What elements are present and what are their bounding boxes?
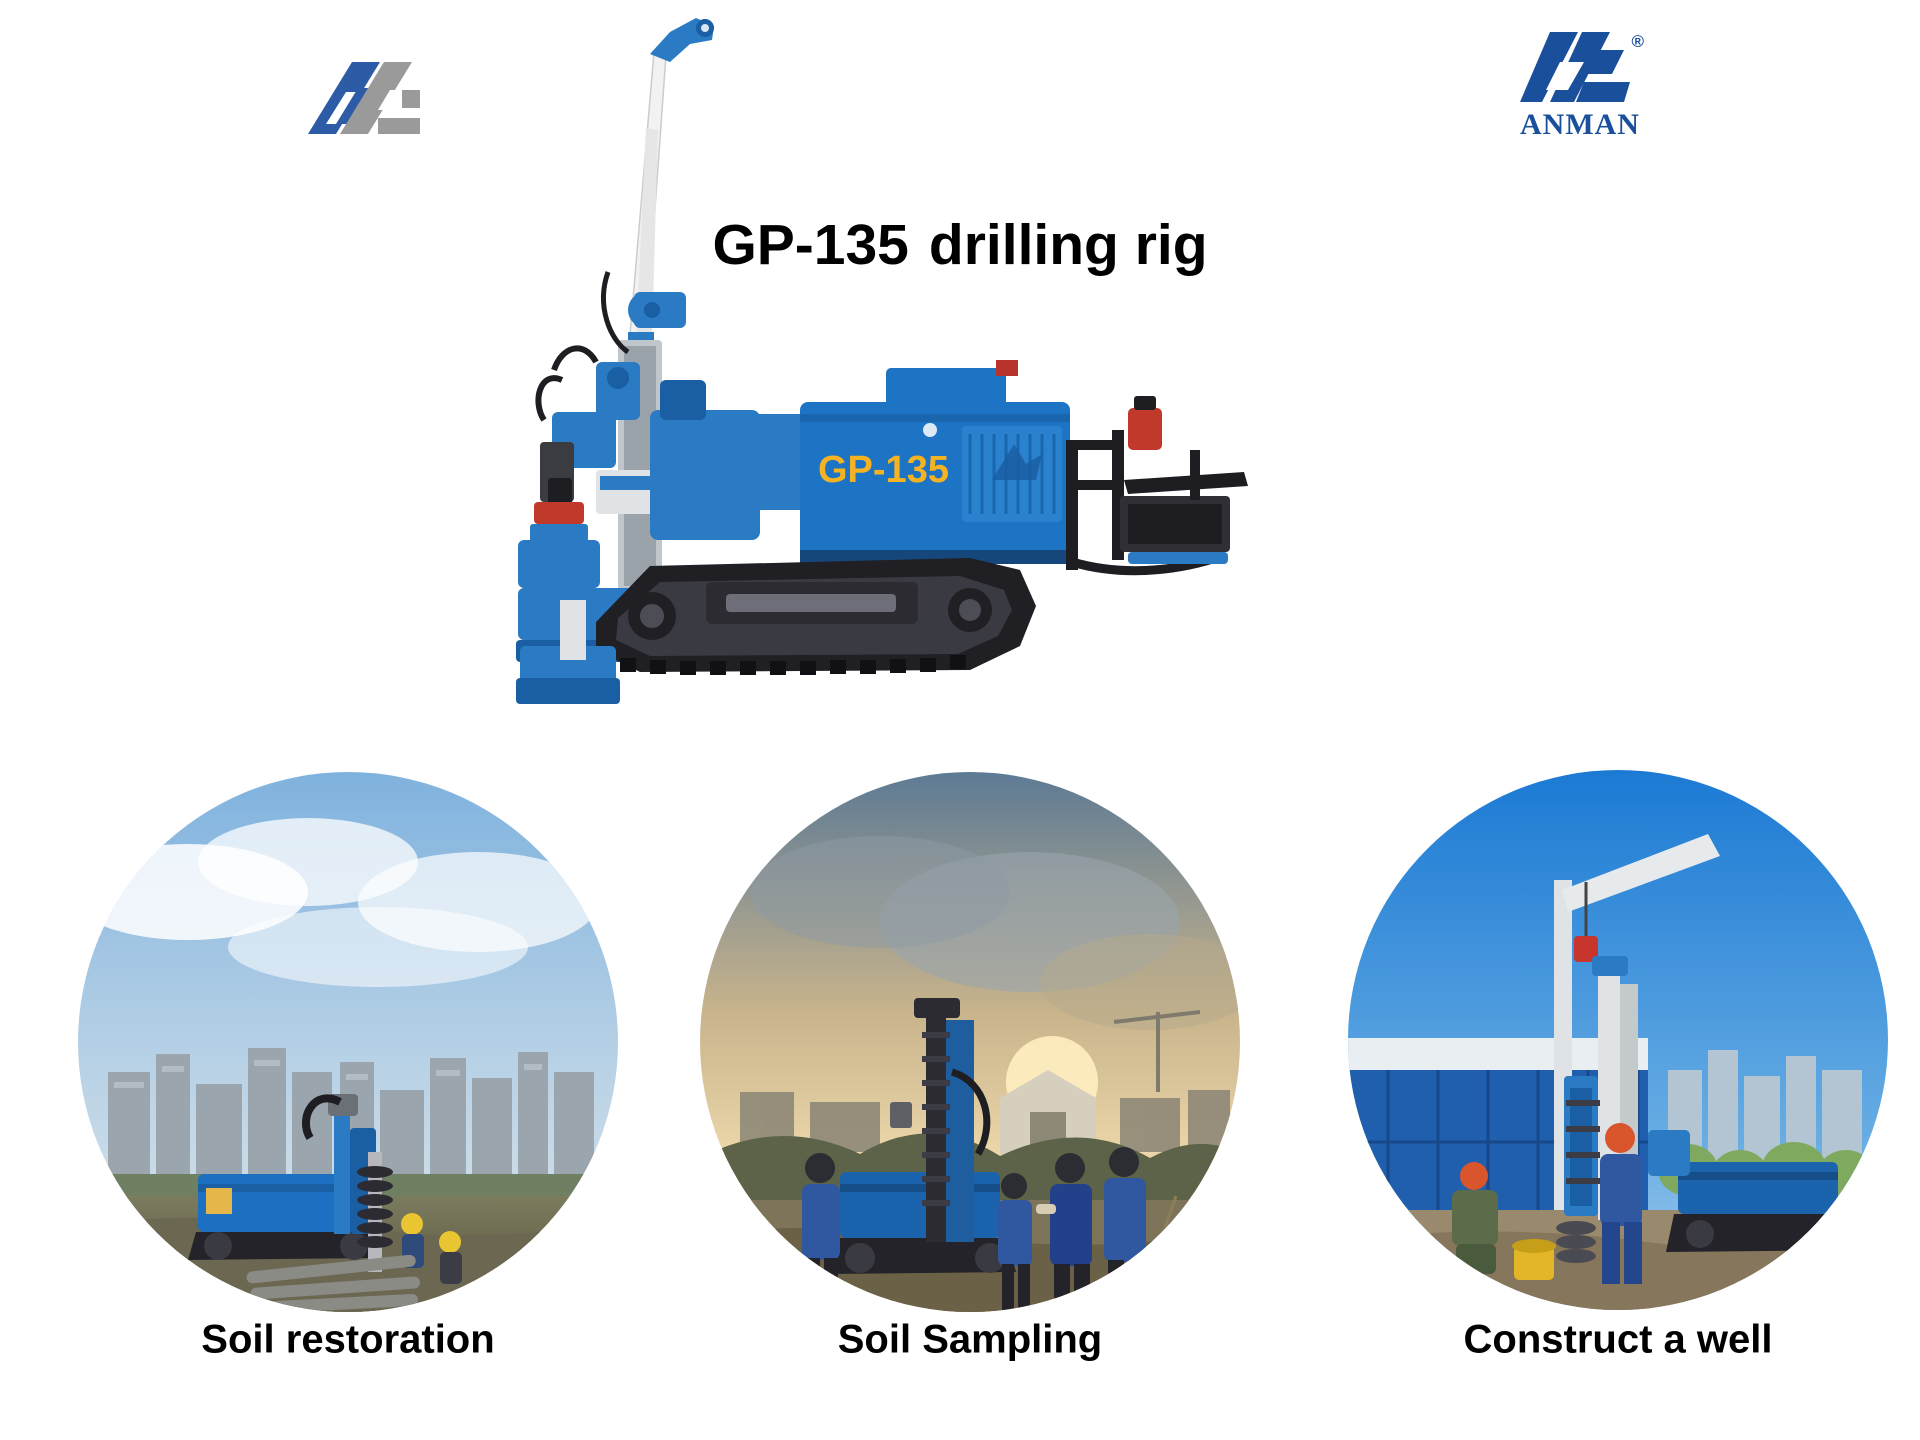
company-logo-left	[306, 62, 446, 158]
caption-soil-sampling: Soil Sampling	[700, 1318, 1240, 1363]
anman-mark: ®	[1500, 28, 1660, 106]
anman-a-mark-icon	[1520, 28, 1640, 106]
photo-construct-a-well	[1348, 770, 1888, 1310]
caption-soil-restoration: Soil restoration	[78, 1318, 618, 1363]
rig-rear-rack	[1066, 396, 1248, 571]
brand-name: ANMAN	[1500, 108, 1660, 142]
rig-engine-canopy: GP-135	[800, 360, 1070, 564]
page-title-rest: drilling rig	[929, 213, 1208, 277]
photo-construct-a-well-illustration	[1348, 770, 1888, 1310]
caption-construct-a-well: Construct a well	[1348, 1318, 1888, 1363]
photo-soil-sampling-illustration	[700, 772, 1240, 1312]
photo-soil-sampling	[700, 772, 1240, 1312]
page-title-model: GP-135	[712, 213, 908, 277]
brand-logo: ® ANMAN	[1500, 28, 1660, 148]
photo-soil-restoration	[78, 772, 618, 1312]
rig-crawler-tracks	[596, 558, 1036, 675]
hero-rig-image: GP-135	[500, 10, 1460, 800]
photo-soil-restoration-illustration	[78, 772, 618, 1312]
drilling-rig-illustration: GP-135	[500, 10, 1460, 800]
registered-symbol: ®	[1631, 32, 1644, 52]
rig-decal-text: GP-135	[818, 449, 949, 491]
abstract-a-logo-icon	[306, 62, 446, 158]
page-title: GP-135drilling rig	[0, 212, 1920, 278]
